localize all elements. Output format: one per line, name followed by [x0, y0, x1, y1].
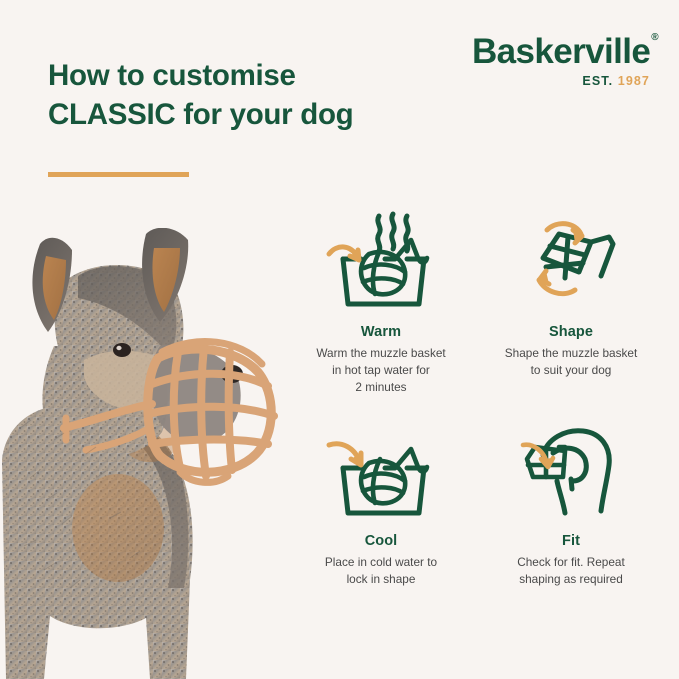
step-fit-body-line-2: shaping as required [476, 571, 666, 588]
steam-line-1 [378, 216, 380, 251]
step-warm-body: Warm the muzzle basket in hot tap water … [286, 345, 476, 395]
step-warm-title: Warm [286, 324, 476, 340]
established-prefix: EST. [582, 74, 613, 88]
step-fit-title: Fit [476, 533, 666, 549]
step-warm-body-line-2: in hot tap water for [286, 362, 476, 379]
muzzle-strap [591, 237, 613, 276]
dog-eye-highlight [116, 346, 121, 350]
step-shape-body-line-2: to suit your dog [476, 362, 666, 379]
muzzle-in-basin [361, 459, 405, 503]
steps-row-1: Warm Warm the muzzle basket in hot tap w… [286, 210, 666, 395]
dog-shoulder-patch [72, 474, 164, 582]
established-line: EST. 1987 [472, 74, 652, 88]
steam-line-2 [392, 214, 394, 249]
dog-mouth-line [571, 479, 572, 489]
muzzle-rib-v1 [565, 237, 568, 278]
step-fit-body-line-1: Check for fit. Repeat [476, 554, 666, 571]
basin-cool-icon [286, 419, 476, 524]
step-shape-body-line-1: Shape the muzzle basket [476, 345, 666, 362]
step-cool: Cool Place in cold water to lock in shap… [286, 419, 476, 588]
step-cool-body-line-1: Place in cold water to [286, 554, 476, 571]
brand-name: Baskerville® [472, 34, 657, 69]
dog-photo [0, 228, 292, 679]
step-fit: Fit Check for fit. Repeat shaping as req… [476, 419, 666, 588]
arrow-bottom-head [540, 271, 549, 284]
step-cool-body-line-2: lock in shape [286, 571, 476, 588]
muzzle-shape-icon [476, 210, 666, 315]
step-warm: Warm Warm the muzzle basket in hot tap w… [286, 210, 476, 395]
step-fit-body: Check for fit. Repeat shaping as require… [476, 554, 666, 588]
page-title-line-1: How to customise [48, 57, 408, 96]
muzzle-in-basin [361, 250, 405, 294]
title-underline-rule [48, 172, 189, 177]
step-cool-title: Cool [286, 533, 476, 549]
dog-head-fit-icon [476, 419, 666, 524]
steps-grid: Warm Warm the muzzle basket in hot tap w… [286, 210, 666, 588]
established-year: 1987 [618, 74, 650, 88]
step-shape-title: Shape [476, 324, 666, 340]
step-shape-body: Shape the muzzle basket to suit your dog [476, 345, 666, 379]
step-warm-body-line-1: Warm the muzzle basket [286, 345, 476, 362]
step-warm-body-line-3: 2 minutes [286, 379, 476, 396]
page-title: How to customise CLASSIC for your dog [48, 57, 408, 134]
registered-trademark-icon: ® [651, 32, 658, 43]
step-cool-body: Place in cold water to lock in shape [286, 554, 476, 588]
step-shape: Shape Shape the muzzle basket to suit yo… [476, 210, 666, 395]
dog-photo-illustration [0, 228, 292, 679]
dog-head-outline [543, 431, 609, 513]
basin-warm-icon [286, 210, 476, 315]
steps-row-2: Cool Place in cold water to lock in shap… [286, 419, 666, 588]
brand-name-text: Baskerville [472, 32, 650, 71]
dog-jaw-line [557, 481, 565, 513]
page-title-line-2: CLASSIC for your dog [48, 96, 408, 135]
dog-eye [113, 343, 131, 357]
poster-canvas: Baskerville® EST. 1987 How to customise … [0, 0, 679, 679]
brand-logo: Baskerville® EST. 1987 [472, 34, 652, 88]
